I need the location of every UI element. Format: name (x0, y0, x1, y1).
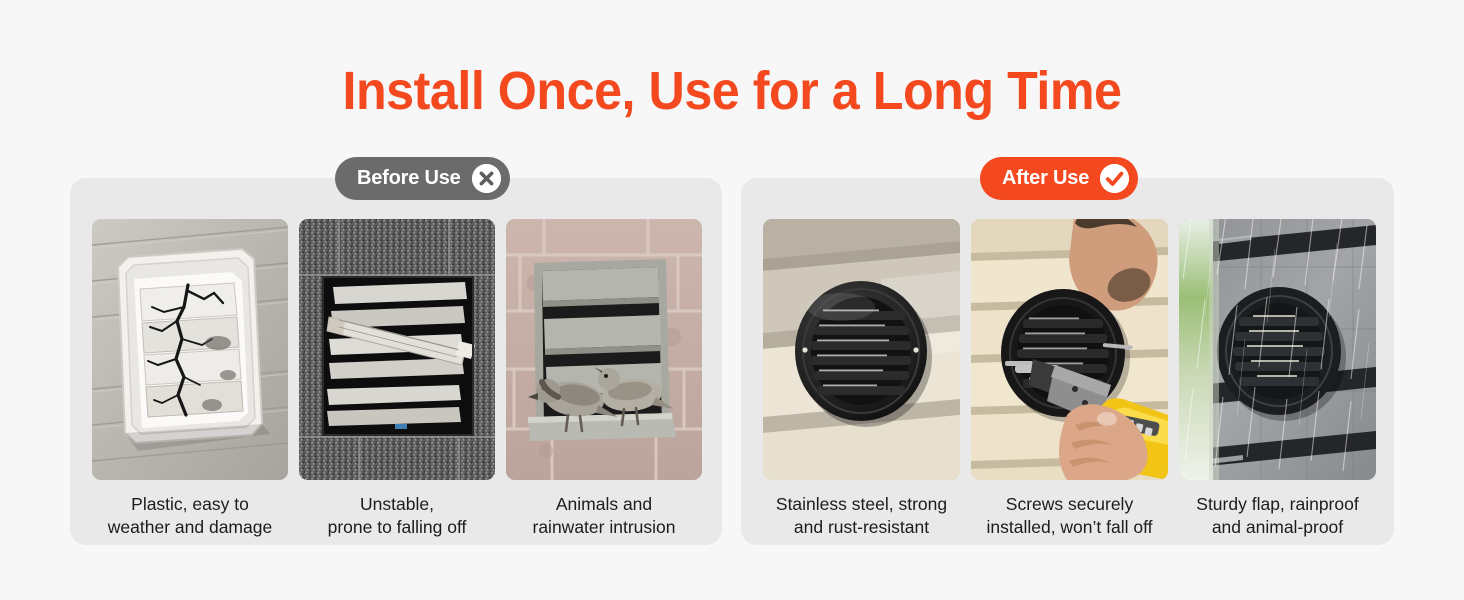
before-use-badge-label: Before Use (357, 167, 461, 190)
cracked-plastic-vent-photo (92, 219, 288, 480)
black-round-vent-photo (763, 219, 960, 480)
panel-detached-louver-vent (299, 219, 495, 480)
birds-on-vent-photo (506, 219, 702, 480)
caption-sturdy-flap: Sturdy flap, rainproof and animal-proof (1179, 493, 1376, 538)
panel-rain-on-vent (1179, 219, 1376, 480)
promo-banner: Install Once, Use for a Long Time (0, 0, 1464, 600)
before-use-badge: Before Use (335, 157, 510, 200)
caption-plastic-weather: Plastic, easy to weather and damage (92, 493, 288, 538)
caption-stainless-steel: Stainless steel, strong and rust-resista… (763, 493, 960, 538)
check-circle-icon (1100, 164, 1129, 193)
caption-unstable-falling: Unstable, prone to falling off (299, 493, 495, 538)
after-use-badge-label: After Use (1002, 167, 1089, 190)
x-circle-icon (472, 164, 501, 193)
panel-drill-install-vent (971, 219, 1168, 480)
rain-on-vent-photo (1179, 219, 1376, 480)
page-title: Install Once, Use for a Long Time (51, 60, 1413, 122)
panel-cracked-plastic-vent (92, 219, 288, 480)
detached-louver-vent-photo (299, 219, 495, 480)
after-use-card: Stainless steel, strong and rust-resista… (741, 178, 1394, 545)
before-use-panel-group (92, 219, 700, 480)
panel-birds-on-vent (506, 219, 702, 480)
panel-black-round-vent (763, 219, 960, 480)
drill-install-vent-photo (971, 219, 1168, 480)
after-use-caption-group: Stainless steel, strong and rust-resista… (763, 493, 1372, 538)
caption-animals-rainwater: Animals and rainwater intrusion (506, 493, 702, 538)
after-use-panel-group (763, 219, 1372, 480)
before-use-card: Plastic, easy to weather and damage Unst… (70, 178, 722, 545)
after-use-badge: After Use (980, 157, 1138, 200)
caption-screws-secure: Screws securely installed, won’t fall of… (971, 493, 1168, 538)
before-use-caption-group: Plastic, easy to weather and damage Unst… (92, 493, 700, 538)
